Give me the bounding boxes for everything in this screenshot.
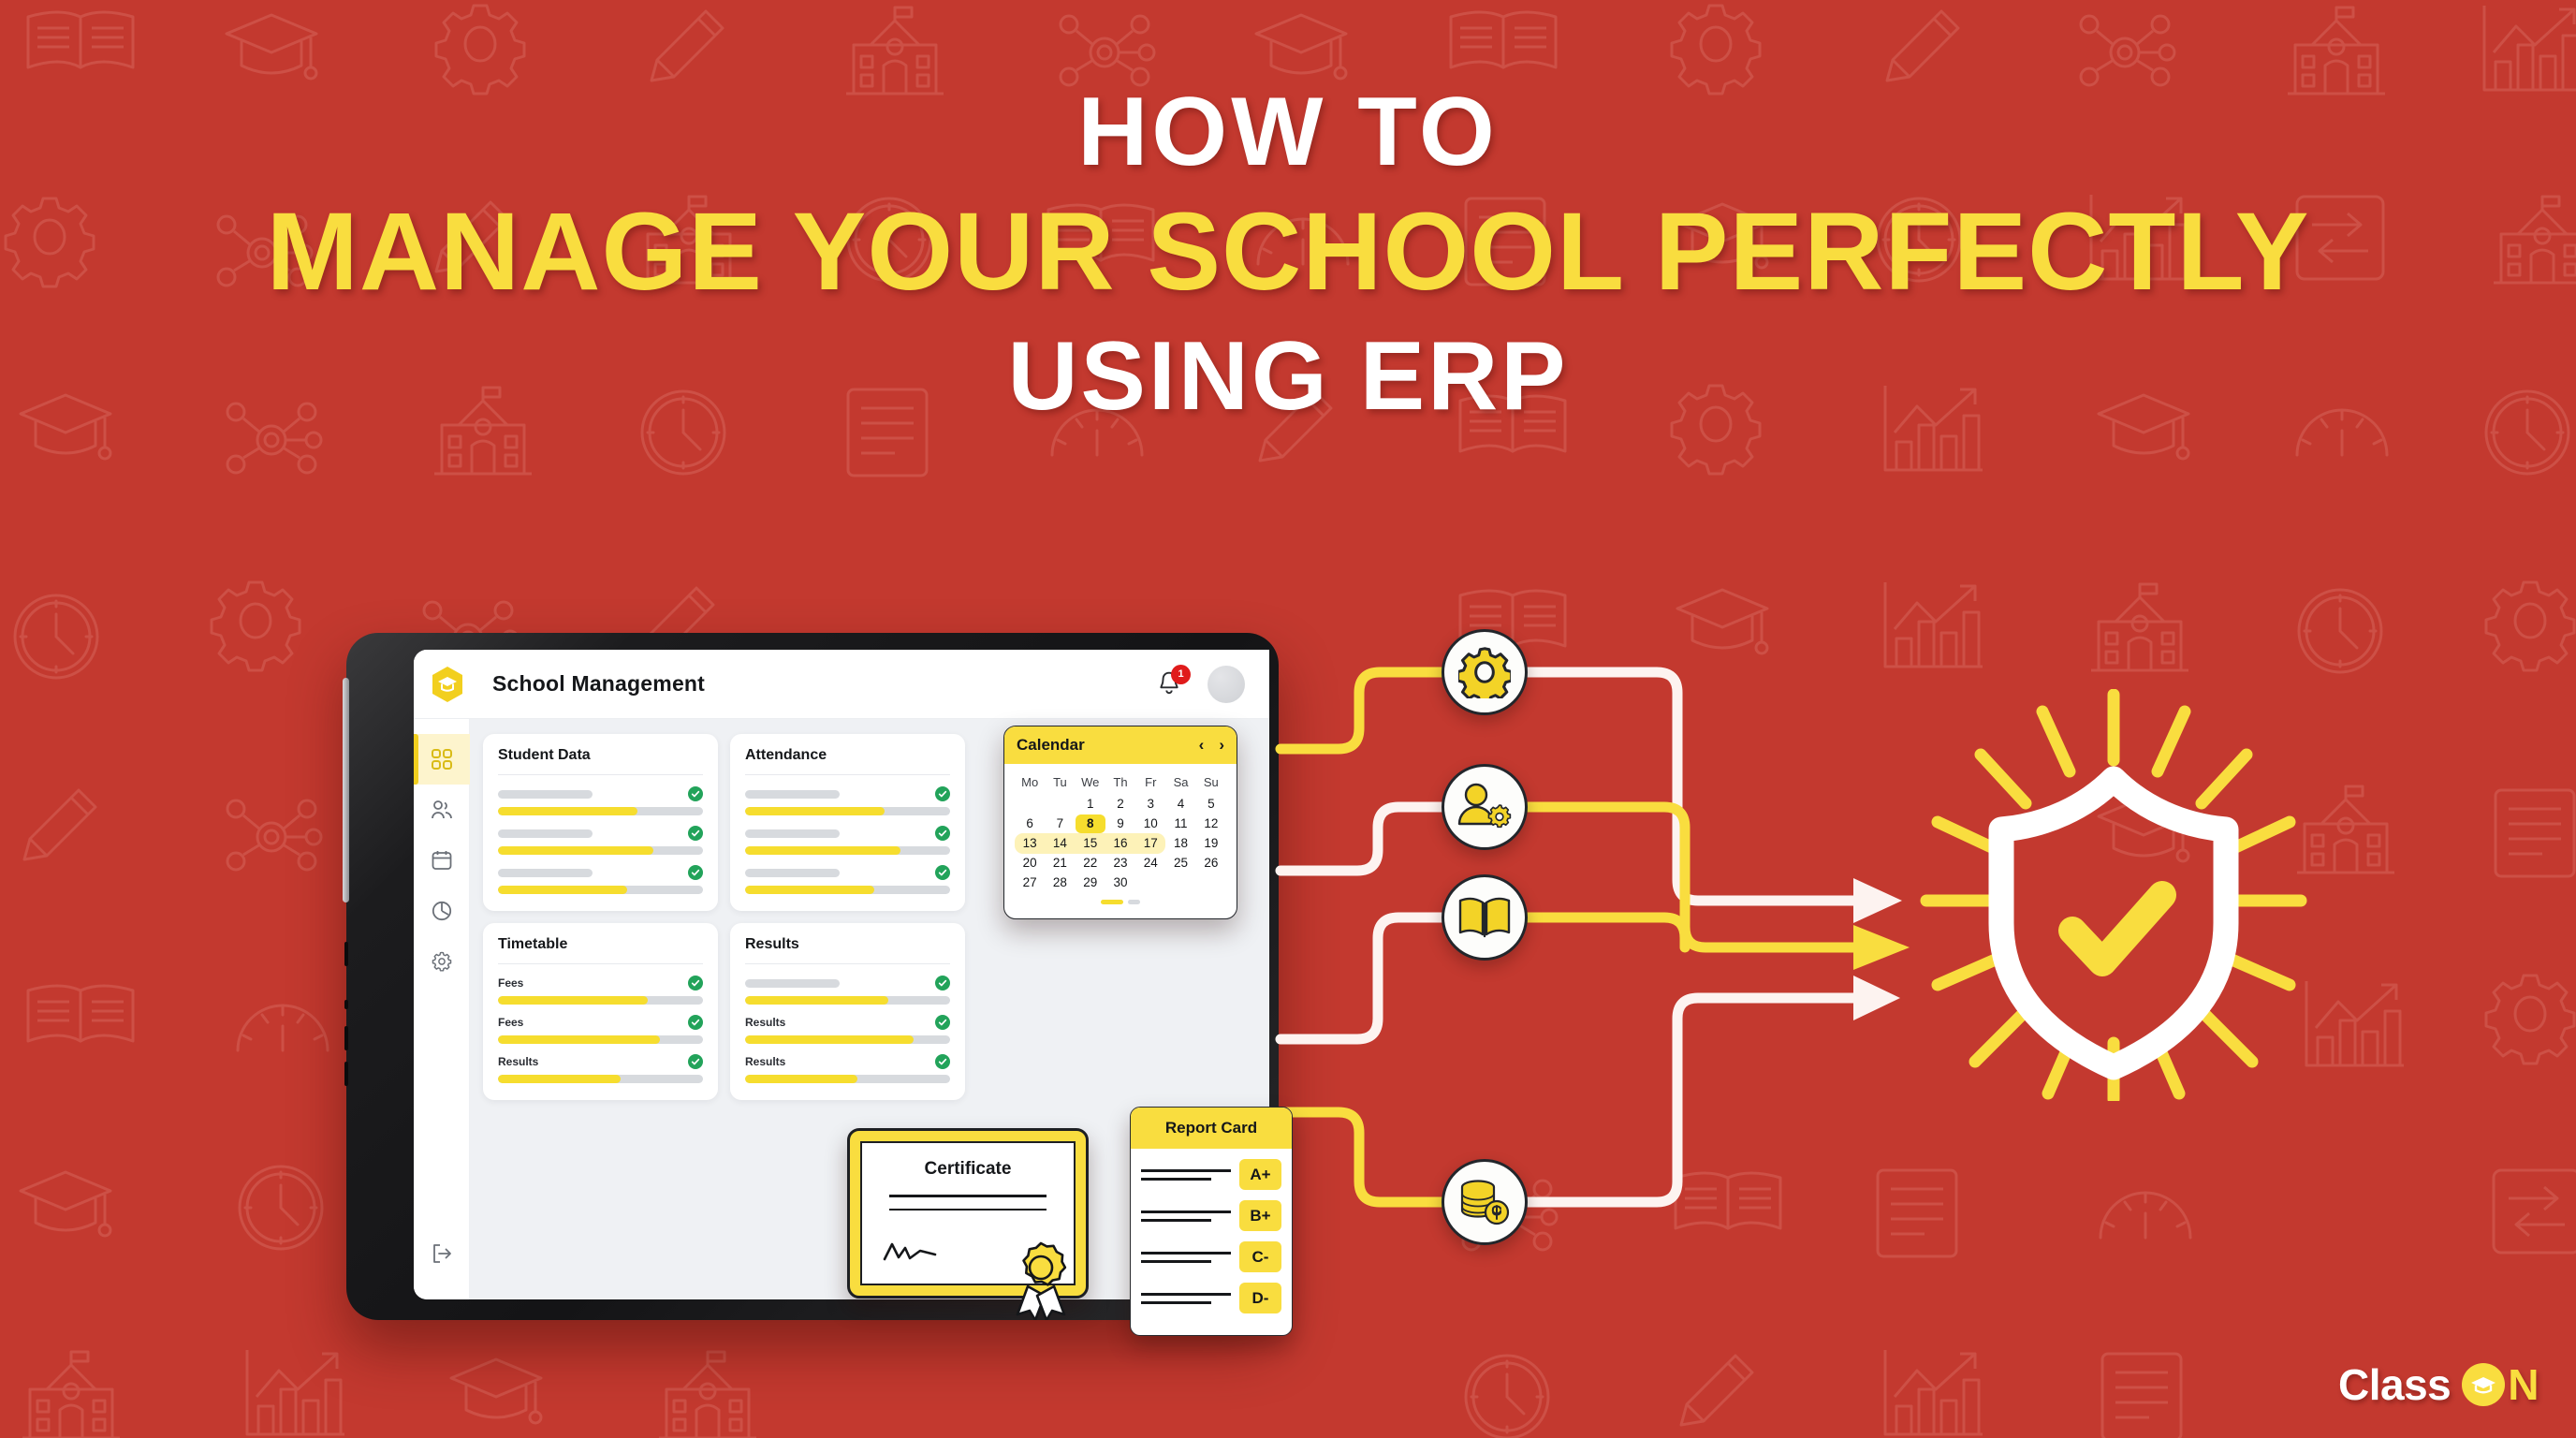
progress-fill (745, 1035, 914, 1044)
calendar-day[interactable]: 9 (1105, 814, 1135, 833)
check-icon (691, 978, 700, 988)
report-card-line (1141, 1219, 1211, 1222)
calendar-day[interactable]: 21 (1045, 854, 1075, 873)
flow-icon-book[interactable] (1442, 874, 1528, 961)
progress-track (745, 1075, 950, 1083)
calendar-day[interactable]: 16 (1105, 834, 1135, 853)
grade-badge: A+ (1239, 1159, 1281, 1190)
progress-track (745, 807, 950, 815)
signature-icon (883, 1239, 941, 1263)
dashboard-card[interactable]: Results Results Results (730, 923, 965, 1100)
progress-track (745, 996, 950, 1005)
calendar-day[interactable]: 18 (1165, 834, 1195, 853)
progress-row (745, 976, 950, 1005)
progress-fill (745, 1075, 857, 1083)
row-label: Fees (498, 976, 523, 990)
calendar-day-empty (1165, 873, 1195, 892)
calendar-week: 20212223242526 (1015, 854, 1226, 873)
row-placeholder (745, 829, 840, 838)
calendar-nav: ‹ › (1199, 736, 1224, 755)
card-title: Results (745, 936, 950, 953)
progress-row (498, 827, 703, 855)
calendar-dow: Sa (1165, 772, 1195, 794)
progress-row (498, 787, 703, 815)
award-ribbon-icon (1012, 1241, 1070, 1320)
progress-fill (745, 996, 888, 1005)
grade-badge: D- (1239, 1283, 1281, 1313)
flow-icon-user-settings[interactable] (1442, 764, 1528, 850)
calendar-day[interactable]: 30 (1105, 873, 1135, 892)
calendar-day-empty (1015, 795, 1045, 814)
logo-word-n: N (2508, 1359, 2539, 1410)
status-check-badge (688, 1054, 703, 1069)
grade-badge: B+ (1239, 1200, 1281, 1231)
progress-fill (745, 807, 885, 815)
shield-check-badge (1917, 689, 2310, 1101)
progress-fill (498, 1035, 660, 1044)
avatar[interactable] (1207, 666, 1245, 703)
progress-row (745, 827, 950, 855)
certificate-line-2 (889, 1209, 1046, 1211)
sidebar-item-settings[interactable] (414, 936, 470, 987)
progress-fill (498, 1075, 621, 1083)
status-check-badge (688, 1015, 703, 1030)
check-icon (938, 789, 947, 799)
report-card-line (1141, 1252, 1231, 1255)
calendar-day[interactable]: 15 (1076, 834, 1105, 853)
dashboard-card[interactable]: Student Data (483, 734, 718, 911)
report-card-lines (1141, 1169, 1231, 1181)
progress-fill (745, 846, 900, 855)
topbar-actions: 1 (1157, 666, 1245, 703)
calendar-week: 12345 (1015, 795, 1226, 814)
card-divider (498, 774, 703, 775)
calendar-day[interactable]: 28 (1045, 873, 1075, 892)
calendar-day[interactable]: 1 (1076, 795, 1105, 814)
progress-row (745, 866, 950, 894)
status-check-badge (935, 826, 950, 841)
calendar-day[interactable]: 14 (1045, 834, 1075, 853)
users-icon (431, 800, 453, 820)
calendar-day[interactable]: 12 (1196, 814, 1226, 833)
status-check-badge (935, 976, 950, 990)
tablet-button-1[interactable] (344, 942, 348, 966)
dashboard-card[interactable]: Attendance (730, 734, 965, 911)
logout-icon (432, 1243, 452, 1264)
grade-badge: C- (1239, 1241, 1281, 1272)
flow-icon-coins[interactable] (1442, 1159, 1528, 1245)
calendar-day[interactable]: 11 (1165, 814, 1195, 833)
card-title: Student Data (498, 747, 703, 764)
progress-track (498, 1075, 703, 1083)
calendar-day-empty (1196, 873, 1226, 892)
calendar-icon (432, 850, 452, 871)
progress-track (745, 886, 950, 894)
card-title: Timetable (498, 936, 703, 953)
progress-fill (498, 886, 627, 894)
report-card-line (1141, 1293, 1231, 1296)
dashboard-card[interactable]: Timetable Fees Fees Results (483, 923, 718, 1100)
check-icon (938, 1057, 947, 1066)
check-icon (2072, 895, 2162, 962)
report-card-row: A+ (1141, 1159, 1281, 1190)
report-card-row: B+ (1141, 1200, 1281, 1231)
certificate-title: Certificate (862, 1143, 1074, 1180)
tablet-button-2[interactable] (344, 1000, 348, 1009)
progress-fill (498, 996, 648, 1005)
calendar-day[interactable]: 2 (1105, 795, 1135, 814)
calendar-dow: Th (1105, 772, 1135, 794)
progress-fill (498, 846, 653, 855)
report-card-line (1141, 1169, 1231, 1172)
progress-row (498, 866, 703, 894)
check-icon (691, 1057, 700, 1066)
gear-icon (432, 951, 452, 972)
shield-outline (2001, 779, 2226, 1067)
certificate-line-1 (889, 1195, 1046, 1197)
report-card-row: C- (1141, 1241, 1281, 1272)
check-icon (938, 829, 947, 838)
calendar-day[interactable]: 29 (1076, 873, 1105, 892)
calendar-day[interactable]: 3 (1135, 795, 1165, 814)
progress-track (498, 996, 703, 1005)
check-icon (938, 868, 947, 877)
status-check-badge (935, 1015, 950, 1030)
check-icon (691, 789, 700, 799)
calendar-widget[interactable]: Calendar ‹ › MoTuWeThFrSaSu 123456789101… (1003, 726, 1237, 919)
app-topbar: School Management 1 (414, 650, 1269, 719)
user-settings-icon (1457, 783, 1512, 831)
report-card-row: D- (1141, 1283, 1281, 1313)
check-icon (691, 829, 700, 838)
calendar-day[interactable]: 22 (1076, 854, 1105, 873)
status-check-badge (688, 865, 703, 880)
progress-track (745, 1035, 950, 1044)
calendar-pager[interactable] (1015, 893, 1226, 913)
calendar-day[interactable]: 13 (1015, 834, 1045, 853)
calendar-day[interactable]: 26 (1196, 854, 1226, 873)
card-divider (745, 963, 950, 964)
calendar-day[interactable]: 23 (1105, 854, 1135, 873)
progress-track (498, 807, 703, 815)
row-label: Results (745, 1016, 785, 1029)
calendar-day[interactable]: 19 (1196, 834, 1226, 853)
check-icon (938, 978, 947, 988)
calendar-day-empty (1045, 795, 1075, 814)
check-icon (691, 868, 700, 877)
row-placeholder (498, 790, 593, 799)
progress-track (498, 886, 703, 894)
row-placeholder (498, 869, 593, 877)
progress-row: Results (745, 1016, 950, 1044)
report-card-line (1141, 1301, 1211, 1304)
graduation-cap-hexagon-icon (431, 666, 464, 703)
row-label: Fees (498, 1016, 523, 1029)
report-card-line (1141, 1211, 1231, 1213)
row-placeholder (745, 790, 840, 799)
grid-dashboard-icon (432, 749, 452, 770)
coins-dollar-icon (1458, 1179, 1511, 1225)
row-placeholder (745, 979, 840, 988)
progress-fill (498, 807, 637, 815)
pager-dot[interactable] (1128, 900, 1140, 904)
row-placeholder (745, 869, 840, 877)
calendar-day[interactable]: 20 (1015, 854, 1045, 873)
calendar-dow: We (1076, 772, 1105, 794)
calendar-day[interactable]: 4 (1165, 795, 1195, 814)
row-placeholder (498, 829, 593, 838)
status-check-badge (688, 976, 703, 990)
report-card-header: Report Card (1131, 1108, 1292, 1149)
gear-icon (1458, 646, 1511, 698)
calendar-day[interactable]: 25 (1165, 854, 1195, 873)
calendar-day[interactable]: 7 (1045, 814, 1075, 833)
progress-row: Fees (498, 1016, 703, 1044)
status-check-badge (935, 865, 950, 880)
notification-badge: 1 (1171, 665, 1191, 684)
calendar-day[interactable]: 8 (1076, 814, 1105, 833)
check-icon (691, 1018, 700, 1027)
row-label: Results (498, 1055, 538, 1068)
progress-track (498, 846, 703, 855)
calendar-day[interactable]: 17 (1135, 834, 1165, 853)
chevron-right-icon[interactable]: › (1219, 736, 1224, 755)
calendar-week: 13141516171819 (1015, 834, 1226, 853)
calendar-day-empty (1135, 873, 1165, 892)
calendar-dow: Su (1196, 772, 1226, 794)
pie-chart-icon (432, 901, 452, 921)
calendar-day[interactable]: 27 (1015, 873, 1045, 892)
report-card-lines (1141, 1211, 1231, 1222)
chevron-left-icon[interactable]: ‹ (1199, 736, 1205, 755)
report-card-body: A+ B+ C- D- (1131, 1149, 1292, 1322)
progress-row: Results (498, 1055, 703, 1083)
progress-track (498, 1035, 703, 1044)
sidebar-item-students[interactable] (414, 785, 470, 835)
calendar-day[interactable]: 10 (1135, 814, 1165, 833)
page-title: School Management (492, 671, 705, 697)
report-card-lines (1141, 1252, 1231, 1263)
sidebar-item-calendar[interactable] (414, 835, 470, 886)
progress-fill (745, 886, 874, 894)
calendar-weeks: 1234567891011121314151617181920212223242… (1015, 795, 1226, 892)
tablet-button-3[interactable] (344, 1026, 348, 1050)
brand-logo: Class N (2338, 1359, 2539, 1410)
open-book-icon (1457, 895, 1512, 940)
calendar-dow: Tu (1045, 772, 1075, 794)
report-card[interactable]: Report Card A+ B+ C- D- (1130, 1107, 1293, 1336)
progress-row: Fees (498, 976, 703, 1005)
calendar-title: Calendar (1017, 736, 1085, 755)
certificate-card[interactable]: Certificate (847, 1128, 1089, 1299)
calendar-header: Calendar ‹ › (1004, 726, 1237, 764)
app-sidebar (414, 719, 470, 1299)
report-card-lines (1141, 1293, 1231, 1304)
report-card-title: Report Card (1165, 1119, 1257, 1137)
sidebar-item-dashboard[interactable] (414, 734, 470, 785)
calendar-body: MoTuWeThFrSaSu 1234567891011121314151617… (1004, 764, 1237, 918)
flow-icon-gear[interactable] (1442, 629, 1528, 715)
card-divider (745, 774, 950, 775)
pager-dot-active[interactable] (1101, 900, 1123, 904)
progress-track (745, 846, 950, 855)
logo-word-class: Class (2338, 1359, 2451, 1410)
dashboard-cards-grid: Student Data (483, 734, 965, 1100)
status-check-badge (935, 786, 950, 801)
graduation-cap-circle-icon (2462, 1363, 2505, 1406)
tablet-button-4[interactable] (344, 1062, 348, 1086)
calendar-dow: Fr (1135, 772, 1165, 794)
row-label: Results (745, 1055, 785, 1068)
sidebar-item-reports[interactable] (414, 886, 470, 936)
notifications-button[interactable]: 1 (1157, 670, 1183, 698)
check-icon (938, 1018, 947, 1027)
report-card-line (1141, 1260, 1211, 1263)
card-divider (498, 963, 703, 964)
status-check-badge (688, 826, 703, 841)
calendar-dow-row: MoTuWeThFrSaSu (1015, 772, 1226, 794)
progress-row (745, 787, 950, 815)
progress-row: Results (745, 1055, 950, 1083)
calendar-week: 27282930 (1015, 873, 1226, 892)
calendar-day[interactable]: 5 (1196, 795, 1226, 814)
calendar-day[interactable]: 24 (1135, 854, 1165, 873)
sidebar-item-logout[interactable] (414, 1228, 470, 1279)
status-check-badge (935, 1054, 950, 1069)
calendar-dow: Mo (1015, 772, 1045, 794)
calendar-day[interactable]: 6 (1015, 814, 1045, 833)
status-check-badge (688, 786, 703, 801)
card-title: Attendance (745, 747, 950, 764)
shine-rays (1926, 695, 2301, 1099)
calendar-week: 6789101112 (1015, 814, 1226, 833)
report-card-line (1141, 1178, 1211, 1181)
